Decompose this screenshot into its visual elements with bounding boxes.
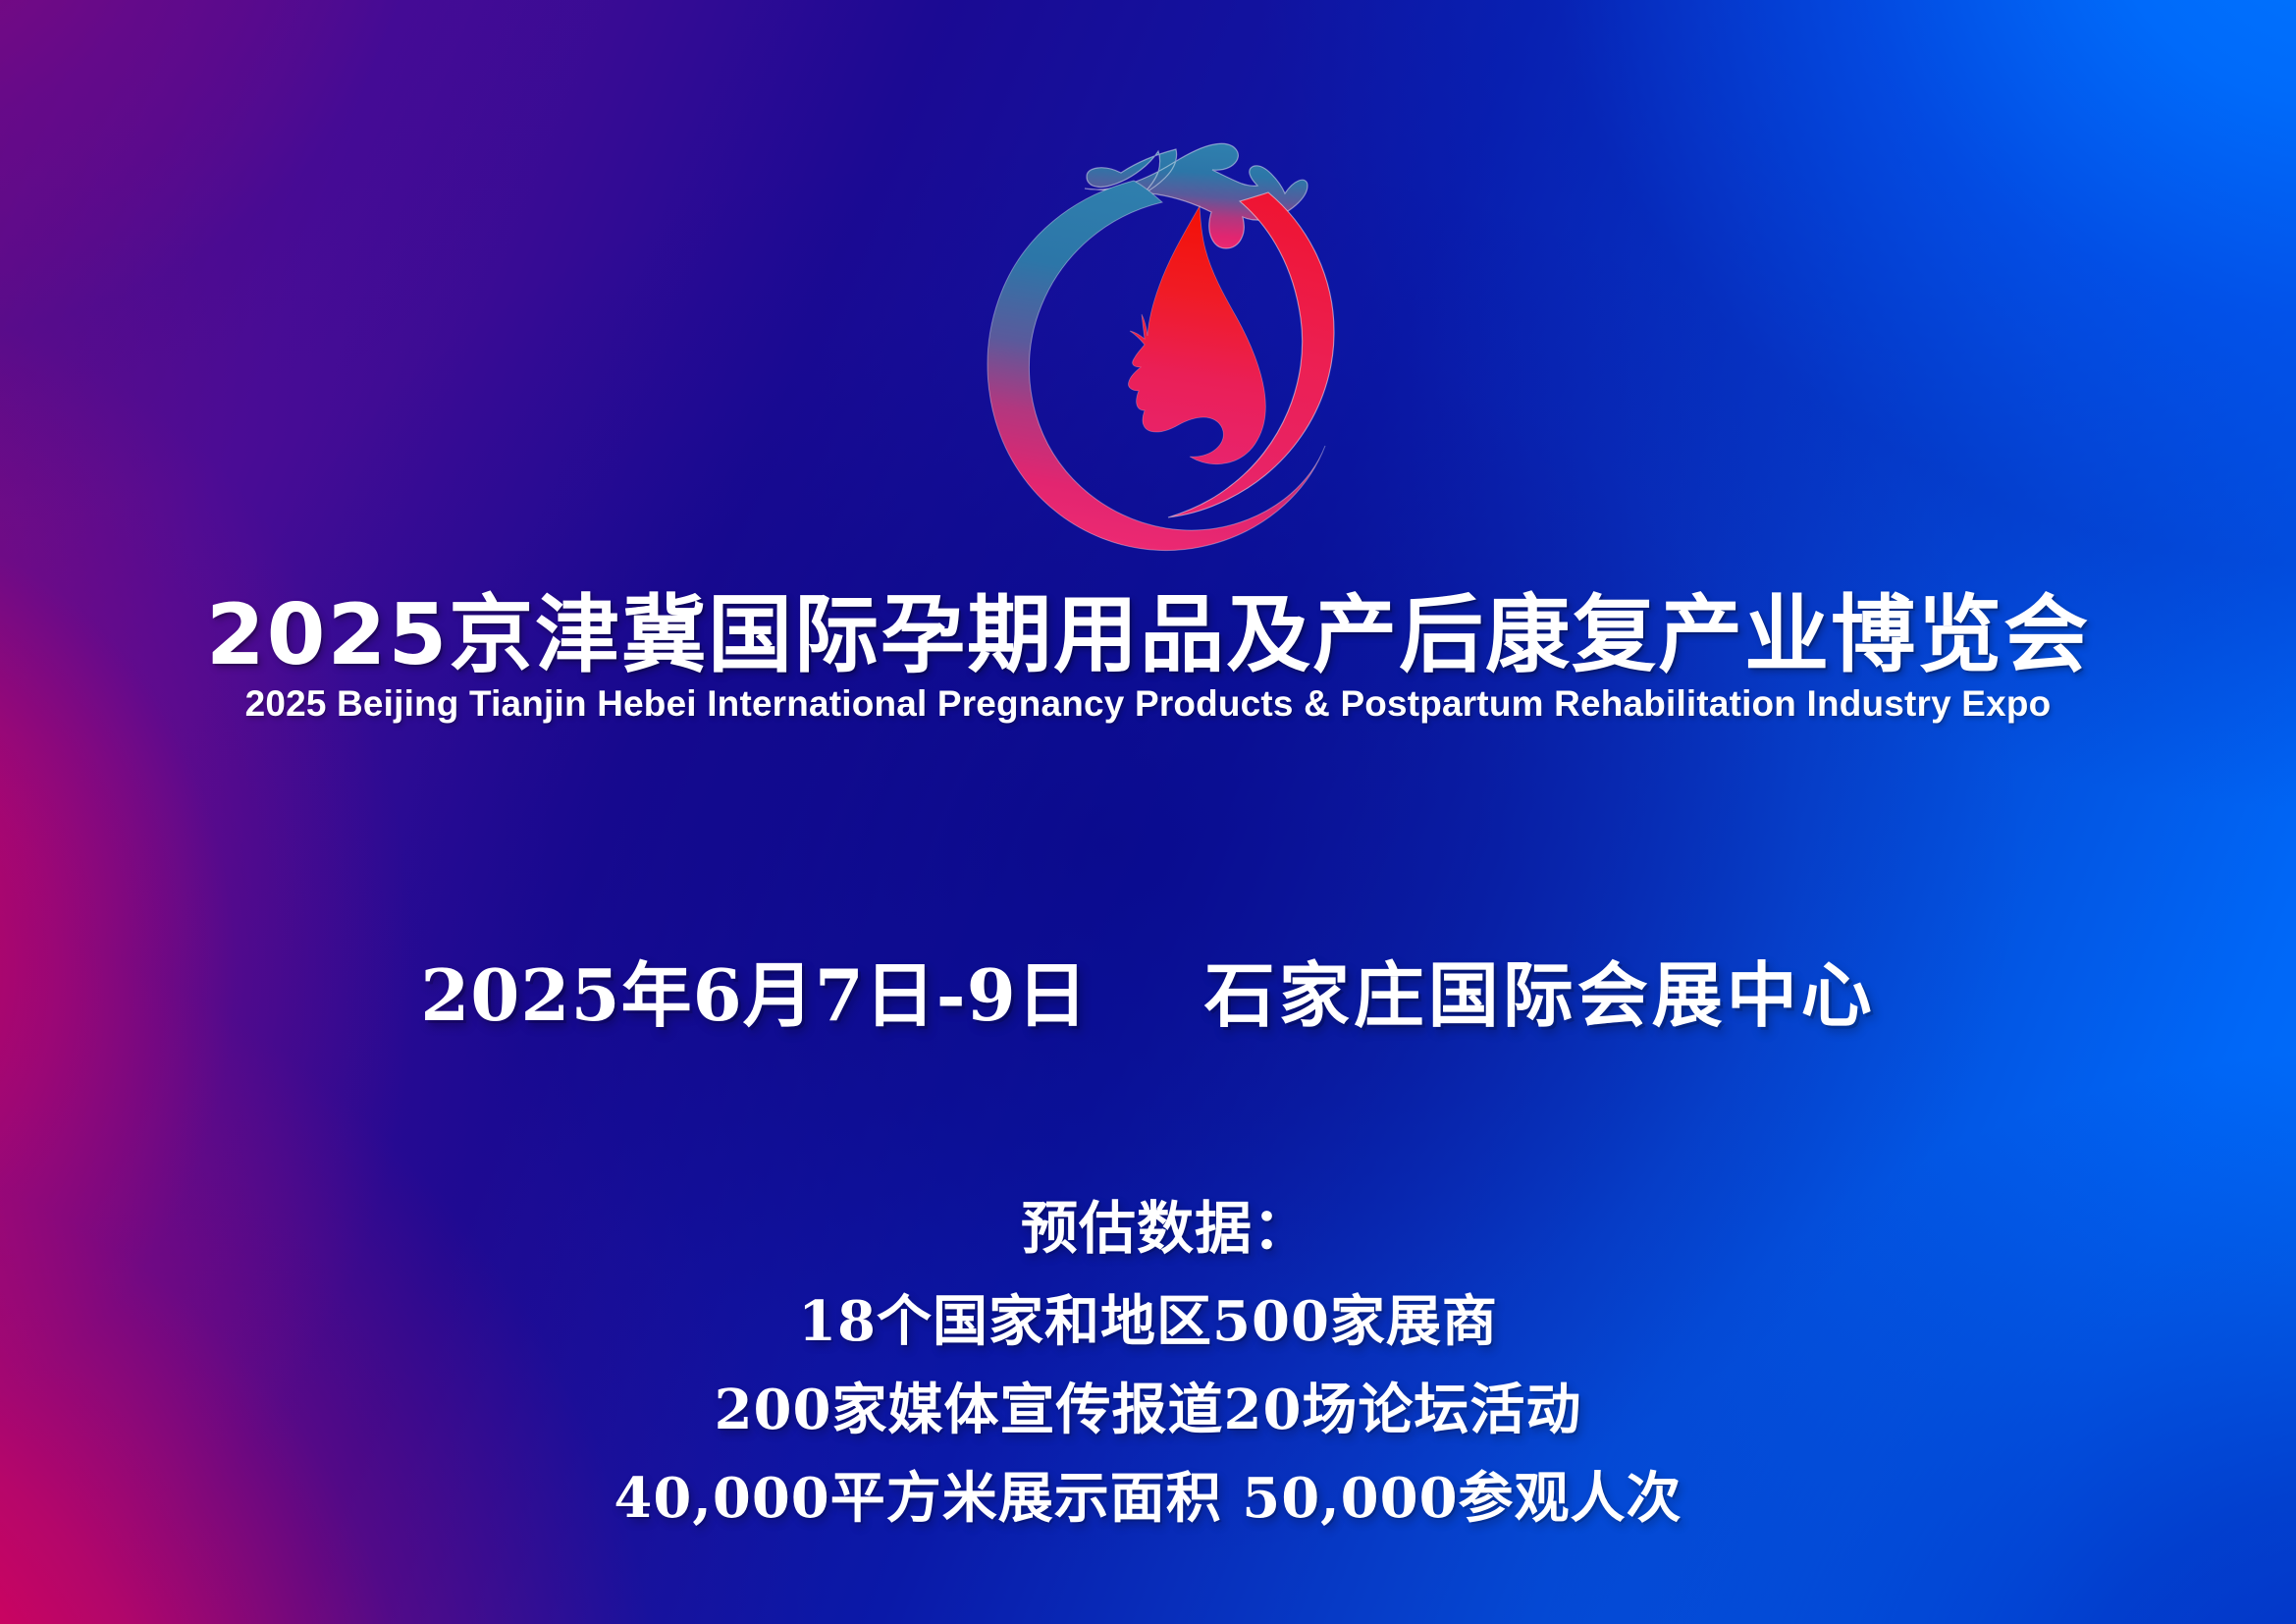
estimated-data-block: 预估数据： 18个国家和地区500家展商 200家媒体宣传报道20场论坛活动 4…: [0, 1200, 2296, 1526]
estimated-data-heading: 预估数据：: [35, 1200, 2296, 1257]
date-venue-line: 2025年6月7日-9日石家庄国际会展中心: [0, 960, 2296, 1031]
dragon-ring-woman-profile-logo: [967, 86, 1369, 558]
stat-line-area-visitors: 40,000平方米展示面积 50,000参观人次: [0, 1471, 2296, 1526]
event-venue: 石家庄国际会展中心: [1204, 953, 1876, 1037]
expo-poster: 2025京津冀国际孕期用品及产后康复产业博览会 2025 Beijing Tia…: [0, 0, 2296, 1624]
stat-line-media-forums: 200家媒体宣传报道20场论坛活动: [0, 1382, 2296, 1437]
logo-woman-profile: [1129, 206, 1266, 464]
title-block: 2025京津冀国际孕期用品及产后康复产业博览会 2025 Beijing Tia…: [0, 593, 2296, 724]
expo-title-english: 2025 Beijing Tianjin Hebei International…: [18, 683, 2279, 724]
event-date: 2025年6月7日-9日: [420, 953, 1089, 1037]
expo-title-chinese: 2025京津冀国际孕期用品及产后康复产业博览会: [0, 593, 2296, 679]
stat-line-exhibitors: 18个国家和地区500家展商: [0, 1294, 2296, 1349]
